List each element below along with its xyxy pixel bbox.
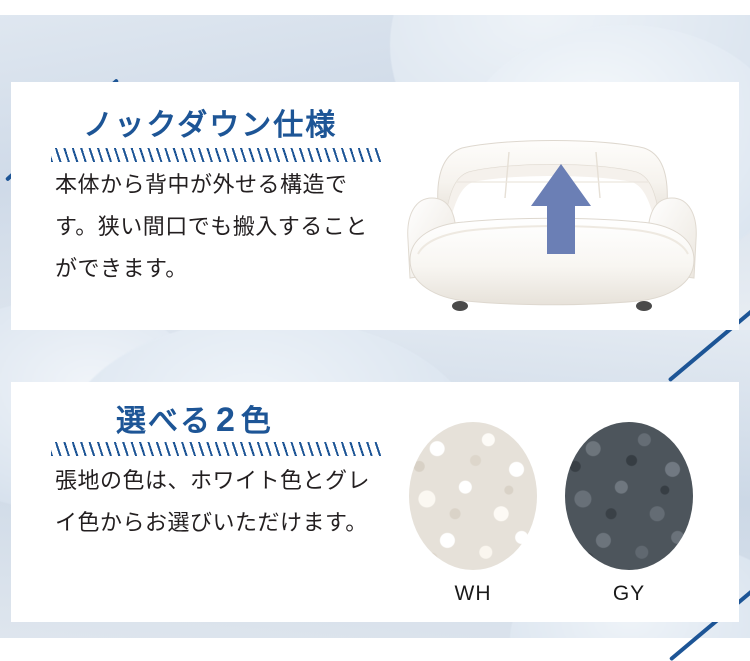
gray-boucle-fabric-swatch[interactable] (565, 422, 693, 570)
panel-colors-heading-suffix: 色 (241, 405, 273, 438)
panel-knockdown: ノックダウン仕様 本体から背中が外せる構造です。狭い間口でも搬入することができま… (11, 82, 739, 330)
white-boucle-fabric-swatch[interactable] (409, 422, 537, 570)
hatched-divider (51, 148, 381, 162)
swatch-label-gy: GY (563, 582, 695, 606)
panel-colors-heading-prefix: 選べる (116, 405, 212, 438)
panel-colors-heading-number: 2 (212, 401, 241, 439)
panel-colors-heading: 選べる2色 (116, 396, 273, 440)
swatch-label-wh: WH (407, 582, 539, 606)
sofa-illustration (396, 132, 706, 322)
panel-colors-body: 張地の色は、ホワイト色とグレイ色からお選びいただけます。 (55, 460, 385, 544)
bottom-white-strip (0, 638, 750, 646)
panel-knockdown-heading: ノックダウン仕様 (83, 100, 337, 144)
color-option-wh[interactable]: WH (407, 422, 539, 606)
panel-colors: 選べる2色 張地の色は、ホワイト色とグレイ色からお選びいただけます。 WH GY (11, 382, 739, 622)
hatched-divider (51, 442, 381, 456)
top-white-strip (0, 0, 750, 15)
up-arrow-icon (531, 164, 591, 254)
panel-knockdown-body: 本体から背中が外せる構造です。狭い間口でも搬入することができます。 (55, 164, 385, 290)
color-option-gy[interactable]: GY (563, 422, 695, 606)
